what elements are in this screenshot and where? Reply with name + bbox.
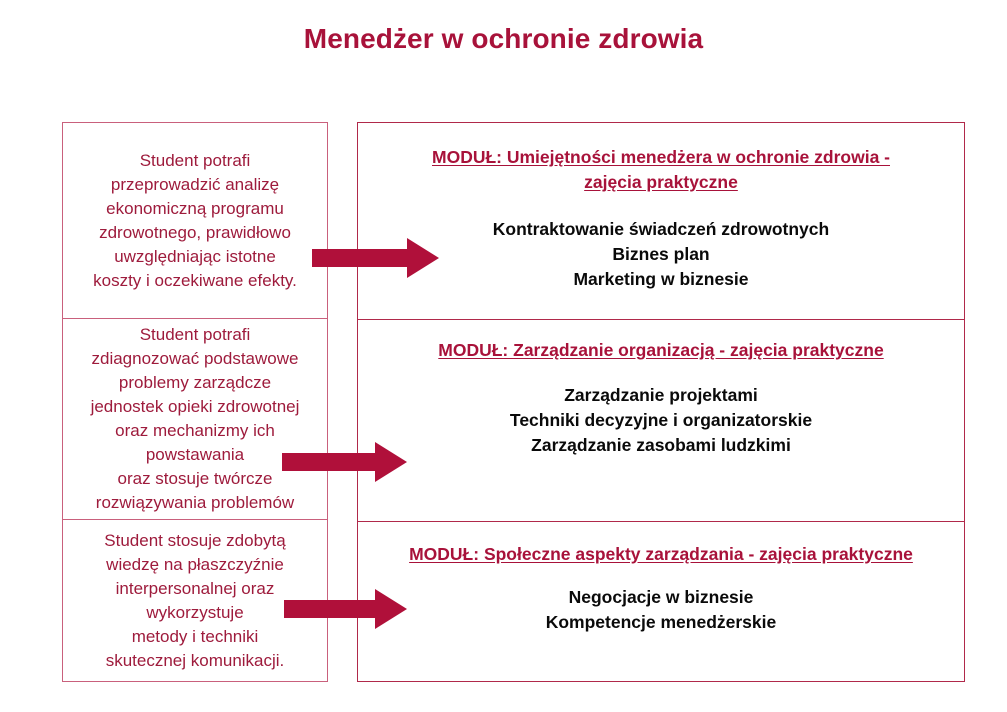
module-heading: MODUŁ: Zarządzanie organizacją - zajęcia… bbox=[366, 338, 956, 363]
right-arrow-icon bbox=[284, 589, 407, 629]
outcome-cell: Student potrafi zdiagnozować podstawowe … bbox=[63, 318, 327, 519]
module-heading: MODUŁ: Umiejętności menedżera w ochronie… bbox=[366, 145, 956, 195]
right-arrow-icon bbox=[312, 238, 439, 278]
outcome-cell: Student potrafi przeprowadzić analizę ek… bbox=[63, 123, 327, 318]
module-cell: MODUŁ: Społeczne aspekty zarządzania - z… bbox=[358, 521, 964, 681]
outcome-text: Student potrafi przeprowadzić analizę ek… bbox=[93, 149, 297, 293]
module-items: Negocjacje w biznesie Kompetencje menedż… bbox=[366, 585, 956, 635]
modules-column: MODUŁ: Umiejętności menedżera w ochronie… bbox=[357, 122, 965, 682]
module-cell: MODUŁ: Umiejętności menedżera w ochronie… bbox=[358, 123, 964, 319]
outcomes-modules-table: Student potrafi przeprowadzić analizę ek… bbox=[0, 0, 1007, 712]
module-items: Kontraktowanie świadczeń zdrowotnych Biz… bbox=[366, 217, 956, 292]
right-arrow-icon bbox=[282, 442, 407, 482]
module-heading: MODUŁ: Społeczne aspekty zarządzania - z… bbox=[366, 542, 956, 567]
outcome-text: Student potrafi zdiagnozować podstawowe … bbox=[91, 323, 300, 515]
outcome-text: Student stosuje zdobytą wiedzę na płaszc… bbox=[104, 529, 285, 673]
module-items: Zarządzanie projektami Techniki decyzyjn… bbox=[366, 383, 956, 458]
module-cell: MODUŁ: Zarządzanie organizacją - zajęcia… bbox=[358, 319, 964, 521]
